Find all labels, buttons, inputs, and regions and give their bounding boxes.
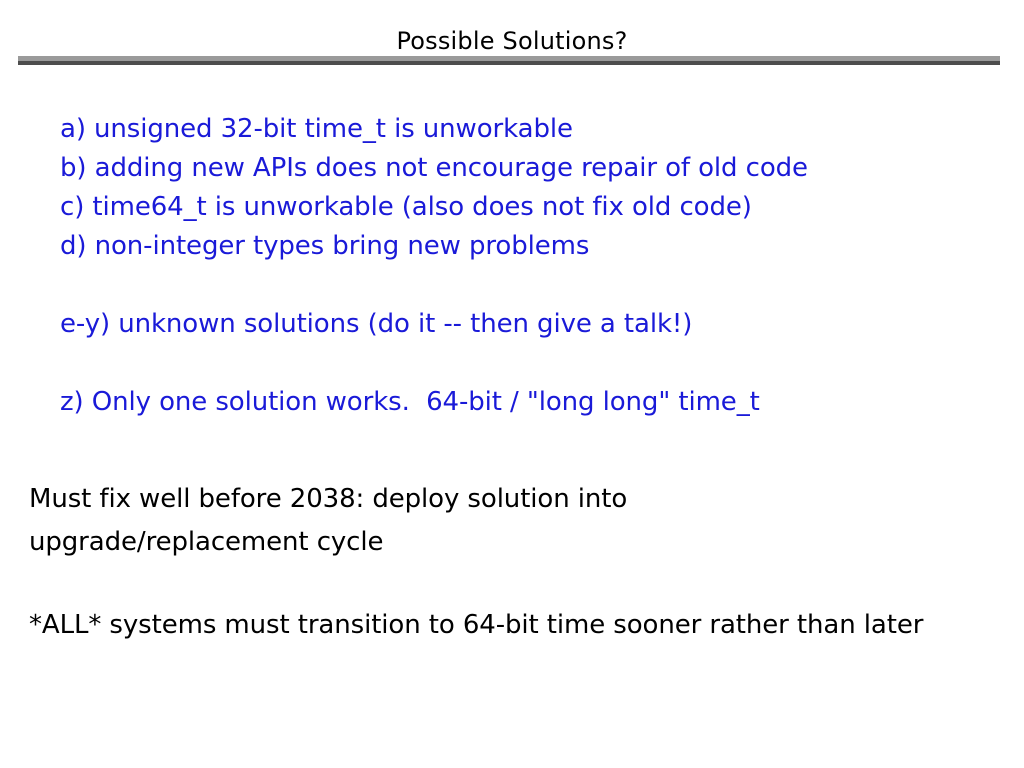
solutions-list: a) unsigned 32-bit time_t is unworkable … (60, 110, 1000, 422)
solution-item-e-y: e-y) unknown solutions (do it -- then gi… (60, 305, 1000, 344)
page-title: Possible Solutions? (0, 26, 1024, 56)
presentation-slide: Possible Solutions? a) unsigned 32-bit t… (0, 0, 1024, 768)
solution-item-b: b) adding new APIs does not encourage re… (60, 149, 1000, 188)
solution-item-d: d) non-integer types bring new problems (60, 227, 1000, 266)
transition-note-line-1: *ALL* systems must transition to 64-bit … (29, 604, 1009, 647)
deadline-note-line-2: upgrade/replacement cycle (29, 521, 1009, 564)
title-divider-rule (18, 56, 1000, 65)
solution-item-z: z) Only one solution works. 64-bit / "lo… (60, 383, 1000, 422)
solution-item-a: a) unsigned 32-bit time_t is unworkable (60, 110, 1000, 149)
solution-item-c: c) time64_t is unworkable (also does not… (60, 188, 1000, 227)
closing-notes: Must fix well before 2038: deploy soluti… (29, 478, 1009, 647)
divider-bottom-band (18, 61, 1000, 65)
deadline-note-line-1: Must fix well before 2038: deploy soluti… (29, 478, 1009, 521)
